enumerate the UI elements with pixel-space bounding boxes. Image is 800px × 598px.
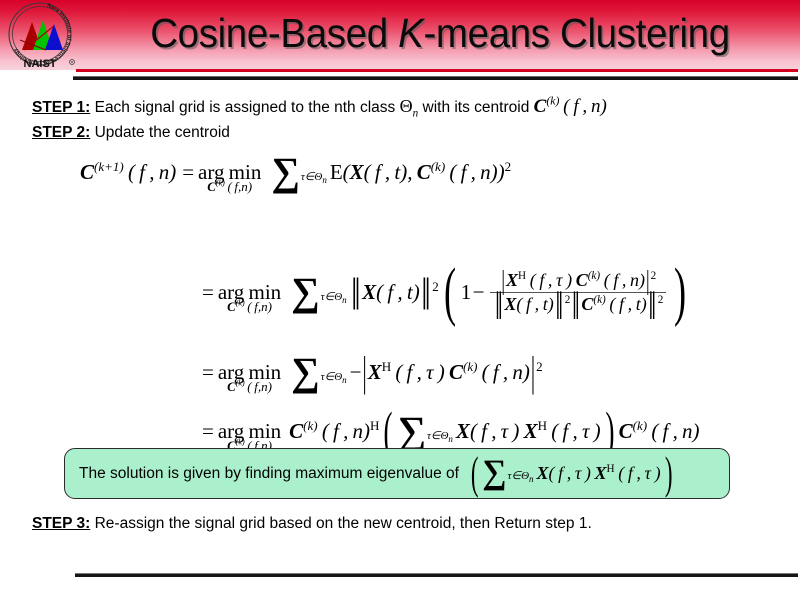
eq2-paren-open: ( (444, 266, 456, 319)
eq4-paren-close: ) (605, 410, 614, 453)
theta-symbol: Θn (400, 96, 419, 116)
eq3-argmin-subscript: C(k) ( f,n) (227, 380, 272, 393)
eq3-summation: ∑ τ∈Θn (291, 358, 346, 387)
title-suffix: -means Clustering (423, 10, 729, 56)
callout-summation: ∑ τ∈Θn (482, 461, 533, 485)
step-3-line: STEP 3: Re-assign the signal grid based … (32, 515, 592, 533)
eq4-pre-term: C(k) ( f , n)H (289, 419, 379, 444)
eq1-argmin: arg min C(k) ( f,n) (198, 162, 261, 183)
eq4-paren-open: ( (384, 410, 393, 453)
sigma-icon: ∑ (291, 358, 320, 387)
eq2-norm-factor: ∥X( f , t)∥2 (350, 280, 439, 305)
callout-sum-subscript: τ∈Θn (508, 469, 534, 486)
eq3-sum-subscript: τ∈Θn (321, 370, 347, 387)
sigma-icon: ∑ (482, 461, 506, 485)
eq4-inner: X( f , τ ) XH ( f , τ ) (456, 419, 601, 444)
title-divider-red (76, 69, 798, 72)
step-1-label: STEP 1: (32, 99, 90, 116)
slide-body: STEP 1: Each signal grid is assigned to … (0, 80, 800, 598)
sigma-icon: ∑ (271, 158, 300, 187)
eq4-post-term: C(k) ( f , n) (619, 419, 700, 444)
eq2-fraction-denominator: ∥X( f , t)∥2∥C(k) ( f , t)∥2 (490, 293, 666, 316)
eq3-equals: = (202, 360, 214, 385)
callout-text: The solution is given by finding maximum… (79, 465, 459, 483)
callout-paren-close: ) (664, 455, 672, 492)
eq4-sum-subscript: τ∈Θn (427, 429, 453, 446)
eq2-summation: ∑ τ∈Θn (291, 278, 346, 307)
step-1-text-middle: with its centroid (418, 99, 533, 116)
step-2-text: Update the centroid (90, 124, 230, 141)
step-2-line: STEP 2: Update the centroid (32, 124, 230, 142)
callout-formula: ( ∑ τ∈Θn X( f , τ ) XH ( f , τ ) ) (467, 455, 676, 492)
eq1-summation: ∑ τ∈Θn (271, 158, 326, 187)
callout-paren-open: ( (471, 455, 479, 492)
eq4-argmin: arg min C(k) ( f,n) (218, 421, 281, 442)
equation-line-4: = arg min C(k) ( f,n) C(k) ( f , n)H ( ∑… (196, 410, 700, 453)
equation-line-3: = arg min C(k) ( f,n) ∑ τ∈Θn −|XH ( f , … (196, 358, 543, 387)
step-1-line: STEP 1: Each signal grid is assigned to … (32, 96, 607, 118)
eq1-sum-subscript: τ∈Θn (301, 170, 327, 187)
eq2-argmin-subscript: C(k) ( f,n) (227, 300, 272, 313)
eq3-argmin: arg min C(k) ( f,n) (218, 362, 281, 383)
eq1-argmin-subscript: C(k) ( f,n) (207, 180, 252, 193)
step-3-label: STEP 3: (32, 515, 90, 532)
sigma-icon: ∑ (291, 278, 320, 307)
equation-line-2: = arg min C(k) ( f,n) ∑ τ∈Θn ∥X( f , t)∥… (196, 266, 691, 319)
eq1-body: E(X( f , t), C(k) ( f , n))2 (330, 160, 511, 185)
sigma-icon: ∑ (397, 417, 426, 446)
solution-callout-box: The solution is given by finding maximum… (64, 448, 730, 499)
eq2-equals: = (202, 280, 214, 305)
eq2-one-minus: 1− (461, 280, 486, 305)
step-1-centroid-formula: C(k) ( f , n) (534, 96, 607, 117)
slide-title-bar: NAIST Nara Institute of Science and Tech… (0, 0, 800, 70)
callout-inner: X( f , τ ) XH ( f , τ ) (537, 463, 661, 484)
eq1-lhs: C(k+1) ( f , n) (80, 160, 176, 185)
equation-line-1: C(k+1) ( f , n) = arg min C(k) ( f,n) ∑ … (80, 158, 511, 187)
eq4-equals: = (202, 419, 214, 444)
step-3-text: Re-assign the signal grid based on the n… (90, 515, 591, 532)
step-1-text-before: Each signal grid is assigned to the nth … (90, 99, 399, 116)
step-2-label: STEP 2: (32, 124, 90, 141)
naist-logo: NAIST Nara Institute of Science and Tech… (2, 0, 78, 70)
eq1-equals: = (182, 160, 194, 185)
eq2-fraction: |XH ( f , τ ) C(k) ( f , n)|2 ∥X( f , t)… (490, 269, 666, 317)
eq4-summation: ∑ τ∈Θn (397, 417, 452, 446)
eq2-argmin: arg min C(k) ( f,n) (218, 282, 281, 303)
eq2-sum-subscript: τ∈Θn (321, 290, 347, 307)
page-title: Cosine-Based K-means Clustering (105, 4, 774, 62)
eq2-paren-close: ) (674, 266, 686, 319)
title-italic-k: K (398, 10, 423, 56)
footer-divider (75, 573, 798, 577)
title-prefix: Cosine-Based (150, 10, 398, 56)
eq3-body: −|XH ( f , τ ) C(k) ( f , n)|2 (350, 360, 543, 385)
